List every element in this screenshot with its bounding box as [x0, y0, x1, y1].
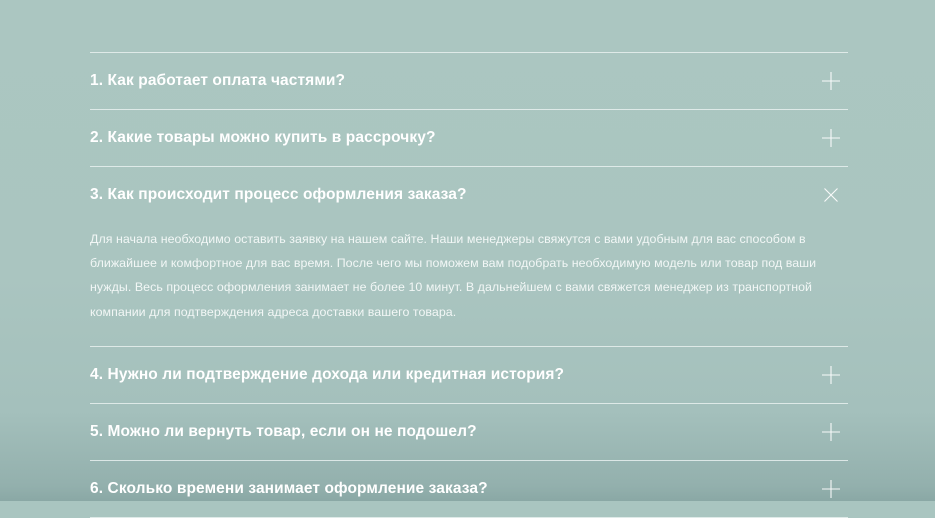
faq-answer-text-3: Для начала необходимо оставить заявку на…	[90, 227, 820, 324]
faq-question-label-6: 6. Сколько времени занимает оформление з…	[90, 479, 488, 498]
faq-item-5: 5. Можно ли вернуть товар, если он не по…	[90, 404, 848, 460]
plus-icon[interactable]	[820, 127, 842, 149]
faq-item-2: 2. Какие товары можно купить в рассрочку…	[90, 110, 848, 166]
faq-accordion: 1. Как работает оплата частями? 2. Какие…	[90, 52, 848, 518]
close-icon[interactable]	[820, 184, 842, 206]
faq-page: 1. Как работает оплата частями? 2. Какие…	[0, 0, 935, 501]
faq-question-label-1: 1. Как работает оплата частями?	[90, 71, 345, 90]
faq-question-row-5[interactable]: 5. Можно ли вернуть товар, если он не по…	[90, 404, 848, 460]
faq-question-row-6[interactable]: 6. Сколько времени занимает оформление з…	[90, 461, 848, 517]
faq-question-label-3: 3. Как происходит процесс оформления зак…	[90, 185, 467, 204]
faq-question-label-5: 5. Можно ли вернуть товар, если он не по…	[90, 422, 477, 441]
faq-item-1: 1. Как работает оплата частями?	[90, 53, 848, 109]
faq-question-row-1[interactable]: 1. Как работает оплата частями?	[90, 53, 848, 109]
faq-question-row-3[interactable]: 3. Как происходит процесс оформления зак…	[90, 167, 848, 223]
faq-item-3: 3. Как происходит процесс оформления зак…	[90, 167, 848, 346]
faq-answer-panel-3: Для начала необходимо оставить заявку на…	[90, 223, 820, 346]
faq-question-row-2[interactable]: 2. Какие товары можно купить в рассрочку…	[90, 110, 848, 166]
plus-icon[interactable]	[820, 364, 842, 386]
faq-question-label-2: 2. Какие товары можно купить в рассрочку…	[90, 128, 436, 147]
faq-question-row-4[interactable]: 4. Нужно ли подтверждение дохода или кре…	[90, 347, 848, 403]
faq-item-6: 6. Сколько времени занимает оформление з…	[90, 461, 848, 517]
faq-question-label-4: 4. Нужно ли подтверждение дохода или кре…	[90, 365, 564, 384]
faq-item-4: 4. Нужно ли подтверждение дохода или кре…	[90, 347, 848, 403]
plus-icon[interactable]	[820, 421, 842, 443]
plus-icon[interactable]	[820, 70, 842, 92]
plus-icon[interactable]	[820, 478, 842, 500]
